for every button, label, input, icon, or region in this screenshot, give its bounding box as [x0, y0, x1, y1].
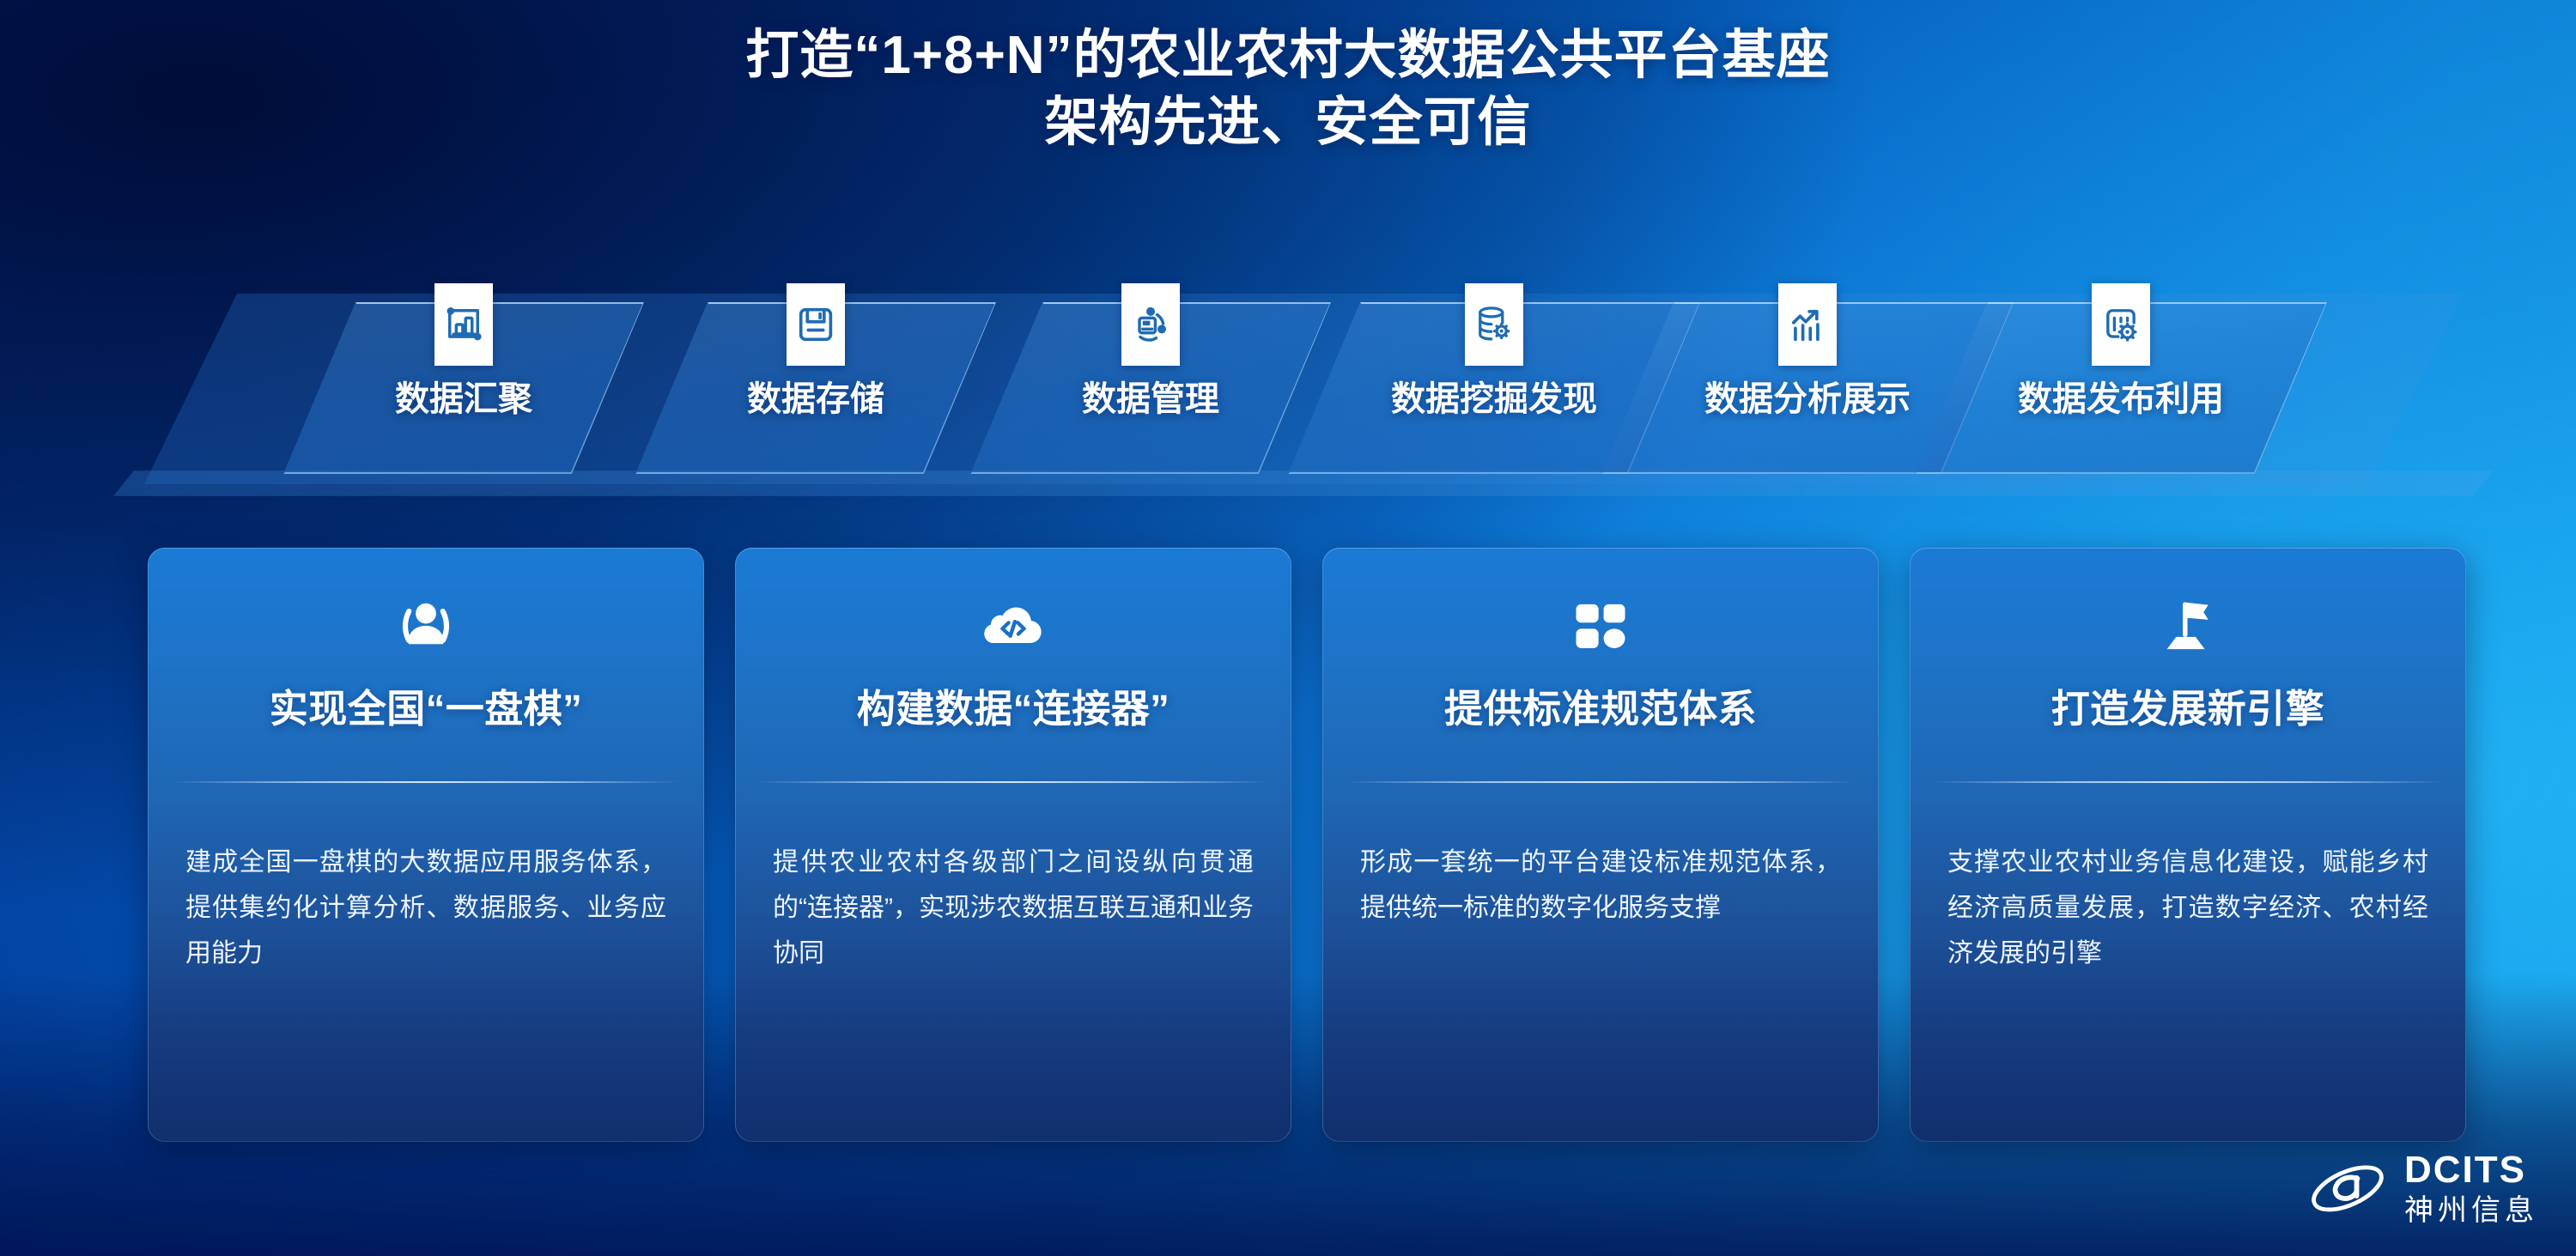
document-nodes-icon — [1121, 283, 1180, 366]
stage-item-data-storage[interactable]: 数据存储 — [635, 283, 996, 500]
people-group-icon — [148, 589, 704, 664]
floppy-disk-icon — [787, 283, 845, 366]
stage-label: 数据汇聚 — [283, 379, 644, 419]
page-title-line-2: 架构先进、安全可信 — [0, 89, 2576, 156]
logo-text-cn: 神州信息 — [2404, 1196, 2538, 1225]
feature-card-title: 构建数据“连接器” — [735, 685, 1291, 733]
page-title-line-1: 打造“1+8+N”的农业农村大数据公共平台基座 — [0, 22, 2576, 89]
flag-icon — [1910, 589, 2466, 664]
feature-card-new-growth-engine[interactable]: 打造发展新引擎 支撑农业农村业务信息化建设，赋能乡村经济高质量发展，打造数字经济… — [1910, 548, 2466, 1142]
feature-card-data-connector[interactable]: 构建数据“连接器” 提供农业农村各级部门之间设纵向贯通的“连接器”，实现涉农数据… — [735, 548, 1291, 1142]
feature-card-standards-system[interactable]: 提供标准规范体系 形成一套统一的平台建设标准规范体系，提供统一标准的数字化服务支… — [1322, 548, 1879, 1142]
dashboard-gear-icon — [2092, 283, 2150, 366]
stage-label: 数据存储 — [635, 379, 996, 419]
feature-card-divider — [1346, 781, 1855, 783]
feature-card-national-unified-plan[interactable]: 实现全国“一盘棋” 建成全国一盘棋的大数据应用服务体系，提供集约化计算分析、数据… — [148, 548, 704, 1142]
feature-card-row: 实现全国“一盘棋” 建成全国一盘棋的大数据应用服务体系，提供集约化计算分析、数据… — [0, 548, 2576, 1149]
database-gear-icon — [1465, 283, 1523, 366]
feature-card-divider — [172, 781, 680, 783]
feature-card-title: 提供标准规范体系 — [1322, 685, 1879, 733]
feature-card-title: 打造发展新引擎 — [1910, 685, 2466, 733]
four-blocks-icon — [1322, 589, 1879, 664]
logo-wordmark: DCITS 神州信息 — [2404, 1151, 2538, 1225]
feature-card-divider — [1934, 781, 2442, 783]
logo-text-en: DCITS — [2404, 1151, 2538, 1189]
stage-label: 数据管理 — [970, 379, 1331, 419]
feature-card-title: 实现全国“一盘棋” — [148, 685, 704, 733]
cloud-code-icon — [735, 589, 1291, 664]
bar-chart-network-icon — [434, 283, 493, 366]
page-title: 打造“1+8+N”的农业农村大数据公共平台基座 架构先进、安全可信 — [0, 22, 2576, 156]
stage-item-data-aggregation[interactable]: 数据汇聚 — [283, 283, 644, 500]
stage-item-data-publishing[interactable]: 数据发布利用 — [1915, 283, 2327, 500]
data-lifecycle-ribbon: 数据汇聚 数据存储 — [0, 283, 2576, 541]
trending-bar-chart-icon — [1778, 283, 1837, 366]
stage-item-data-management[interactable]: 数据管理 — [970, 283, 1331, 500]
feature-card-body: 形成一套统一的平台建设标准规范体系，提供统一标准的数字化服务支撑 — [1360, 840, 1841, 931]
feature-card-body: 建成全国一盘棋的大数据应用服务体系，提供集约化计算分析、数据服务、业务应用能力 — [185, 840, 666, 976]
orbit-swirl-icon — [2306, 1156, 2389, 1221]
feature-card-divider — [759, 781, 1267, 783]
feature-card-body: 支撑农业农村业务信息化建设，赋能乡村经济高质量发展，打造数字经济、农村经济发展的… — [1947, 840, 2428, 976]
stage-label: 数据发布利用 — [1941, 379, 2301, 419]
feature-card-body: 提供农业农村各级部门之间设纵向贯通的“连接器”，实现涉农数据互联互通和业务协同 — [773, 840, 1254, 976]
dcits-logo: DCITS 神州信息 — [2306, 1151, 2538, 1225]
